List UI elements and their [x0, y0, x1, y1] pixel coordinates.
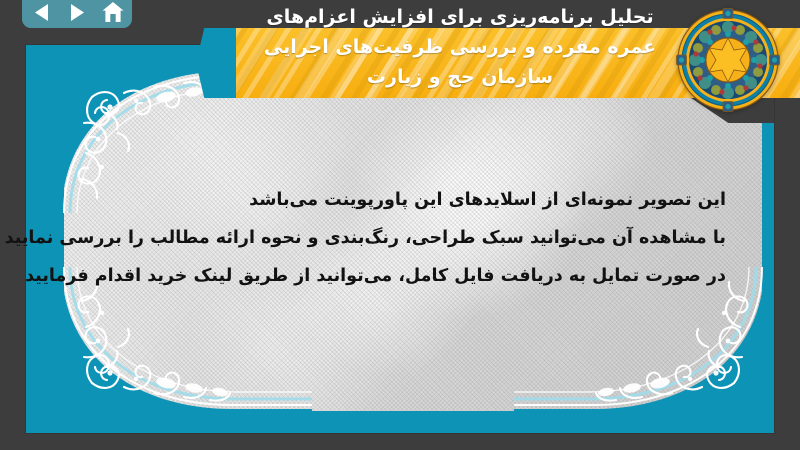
- triangle-right-icon: [69, 3, 86, 22]
- home-icon: [102, 2, 124, 23]
- home-button[interactable]: [100, 0, 126, 24]
- navigation-bar: [22, 0, 132, 28]
- body-paragraph-1: این تصویر نمونه‌ای از اسلایدهای این پاور…: [86, 181, 726, 219]
- slide-viewer: این تصویر نمونه‌ای از اسلایدهای این پاور…: [0, 0, 800, 450]
- body-paragraph-2: با مشاهده آن می‌توانید سبک طراحی، رنگ‌بن…: [86, 219, 726, 257]
- triangle-left-icon: [33, 3, 50, 22]
- next-slide-button[interactable]: [64, 0, 90, 24]
- slide-body-text: این تصویر نمونه‌ای از اسلایدهای این پاور…: [86, 181, 726, 295]
- body-paragraph-3: در صورت تمایل به دریافت فایل کامل، می‌تو…: [86, 257, 726, 295]
- previous-slide-button[interactable]: [28, 0, 54, 24]
- slide-frame: این تصویر نمونه‌ای از اسلایدهای این پاور…: [26, 45, 774, 433]
- islamic-star-medallion-icon: [676, 8, 780, 112]
